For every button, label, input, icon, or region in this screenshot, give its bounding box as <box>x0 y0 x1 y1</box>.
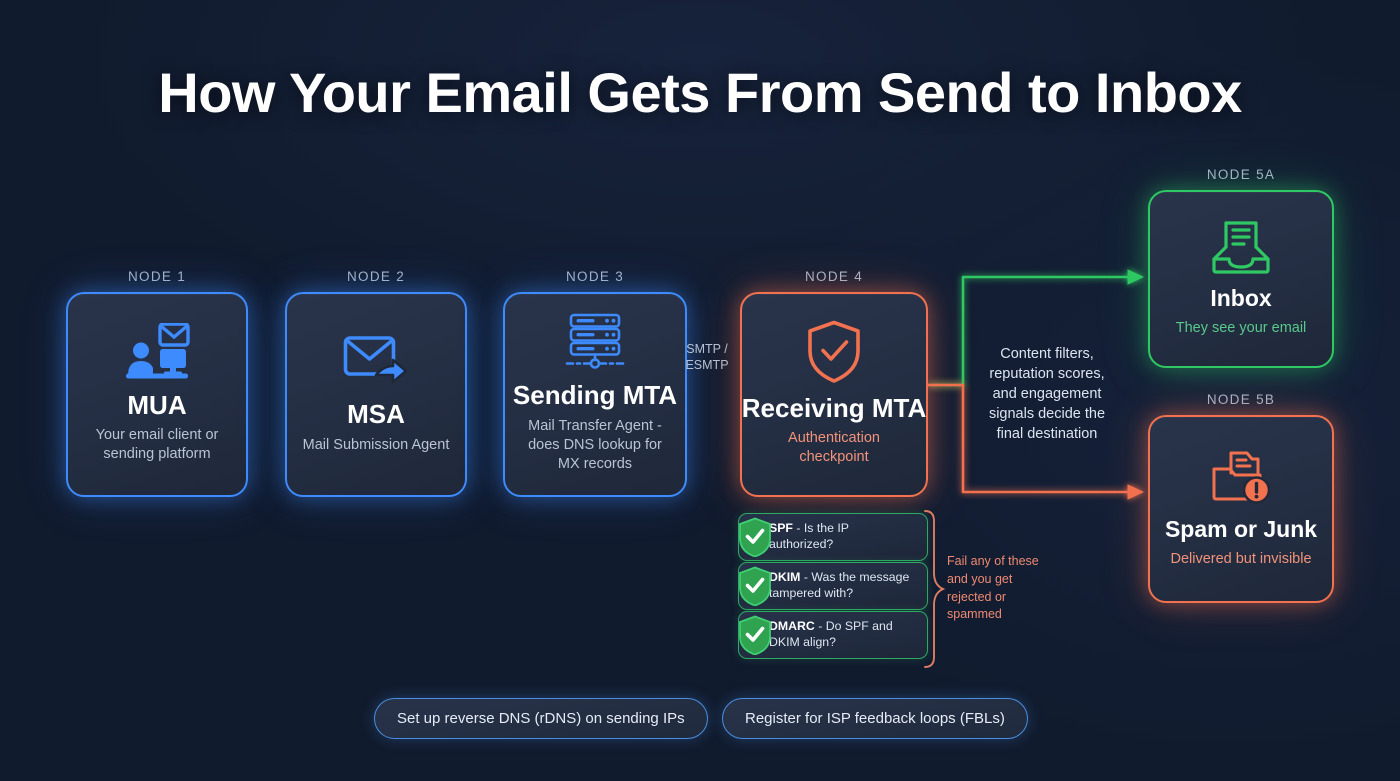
auth-check-row-spf[interactable]: SPF - Is the IP authorized? <box>738 513 928 561</box>
branch-decision-note: Content filters, reputation scores, and … <box>963 344 1131 444</box>
page-title: How Your Email Gets From Send to Inbox <box>0 60 1400 125</box>
node-title-msa: MSA <box>347 400 405 429</box>
node-subtitle-spam: Delivered but invisible <box>1170 550 1311 569</box>
node-subtitle-receiving-mta: Authentication checkpoint <box>754 429 914 467</box>
node-tag-1: NODE 1 <box>66 269 248 284</box>
envelope-forward-icon <box>343 332 409 390</box>
node-card-sending-mta[interactable]: Sending MTA Mail Transfer Agent - does D… <box>503 292 687 497</box>
node-title-sending-mta: Sending MTA <box>513 381 677 410</box>
node-card-receiving-mta[interactable]: Receiving MTA Authentication checkpoint <box>740 292 928 497</box>
node-title-mua: MUA <box>127 391 186 420</box>
node-tag-2: NODE 2 <box>285 269 467 284</box>
node-tag-5b: NODE 5B <box>1148 392 1334 407</box>
footer-action-fbl[interactable]: Register for ISP feedback loops (FBLs) <box>722 698 1028 739</box>
node-subtitle-mua: Your email client or sending platform <box>80 426 234 464</box>
footer-action-rdns[interactable]: Set up reverse DNS (rDNS) on sending IPs <box>374 698 708 739</box>
person-at-desk-with-envelope-icon <box>122 323 192 381</box>
auth-check-row-dmarc[interactable]: DMARC - Do SPF and DKIM align? <box>738 611 928 659</box>
auth-check-name-dmarc: DMARC <box>769 619 815 633</box>
node-subtitle-inbox: They see your email <box>1176 319 1307 338</box>
node-title-spam: Spam or Junk <box>1165 517 1317 542</box>
node-tag-3: NODE 3 <box>503 269 687 284</box>
folder-alert-icon <box>1209 447 1273 507</box>
edge-label-protocol: SMTP / ESMTP <box>678 341 736 373</box>
node-tag-5a: NODE 5A <box>1148 167 1334 182</box>
auth-check-row-dkim[interactable]: DKIM - Was the message tampered with? <box>738 562 928 610</box>
shield-check-badge-icon <box>738 517 772 557</box>
node-card-inbox[interactable]: Inbox They see your email <box>1148 190 1334 368</box>
diagram-canvas: How Your Email Gets From Send to Inbox N… <box>0 0 1400 781</box>
auth-check-name-dkim: DKIM <box>769 570 800 584</box>
node-subtitle-msa: Mail Submission Agent <box>303 436 450 455</box>
node-subtitle-sending-mta: Mail Transfer Agent - does DNS lookup fo… <box>517 417 673 474</box>
node-card-msa[interactable]: MSA Mail Submission Agent <box>285 292 467 497</box>
node-card-spam[interactable]: Spam or Junk Delivered but invisible <box>1148 415 1334 603</box>
server-rack-icon <box>564 313 626 371</box>
node-title-receiving-mta: Receiving MTA <box>742 394 926 423</box>
node-card-mua[interactable]: MUA Your email client or sending platfor… <box>66 292 248 497</box>
shield-check-badge-icon <box>738 615 772 655</box>
auth-fail-note: Fail any of these and you get rejected o… <box>947 553 1051 624</box>
auth-check-name-spf: SPF <box>769 521 793 535</box>
shield-check-badge-icon <box>738 566 772 606</box>
node-title-inbox: Inbox <box>1210 286 1271 311</box>
shield-check-icon <box>805 320 863 384</box>
node-tag-4: NODE 4 <box>740 269 928 284</box>
inbox-tray-icon <box>1210 218 1272 276</box>
